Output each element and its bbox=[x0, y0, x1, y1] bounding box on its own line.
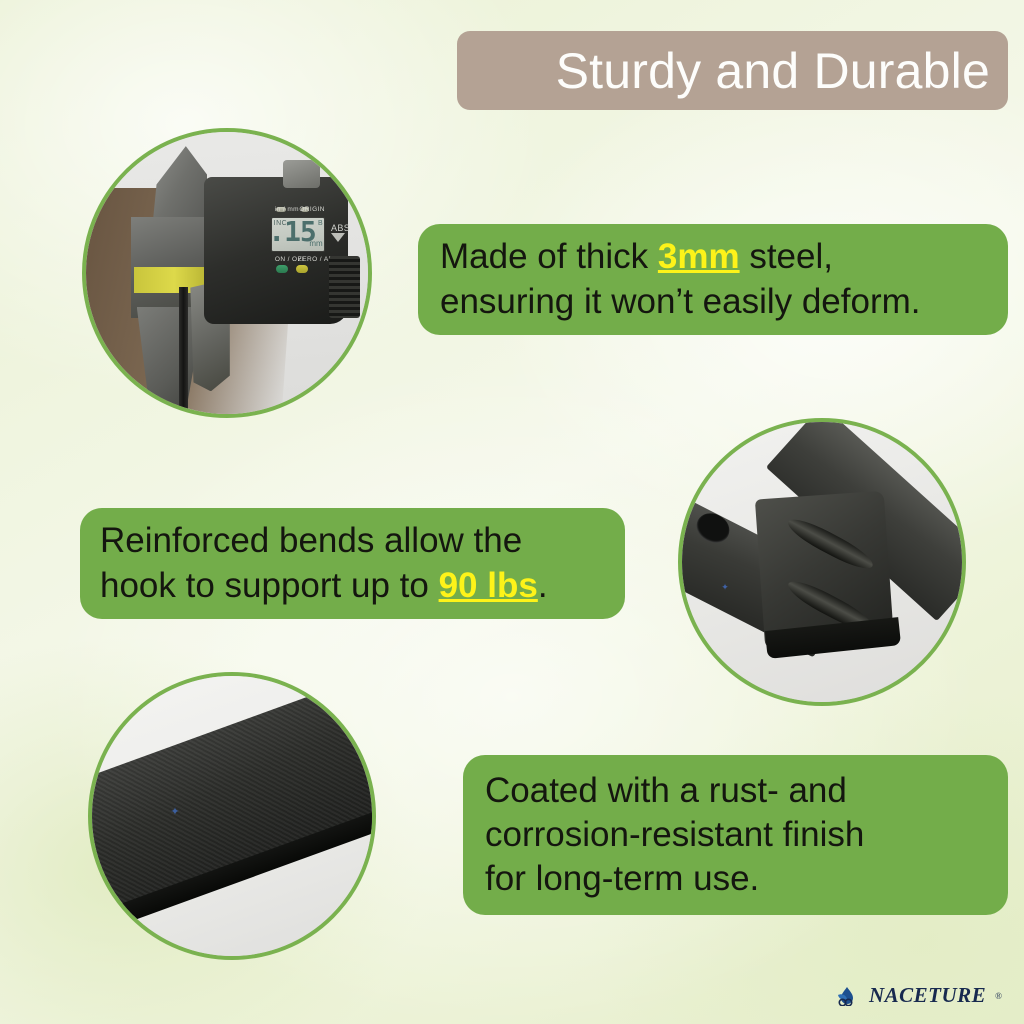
lcd-unit-label: mm bbox=[309, 239, 322, 248]
callout-text-pre: Made of thick bbox=[440, 237, 658, 276]
caliper-thumb-wheel bbox=[283, 160, 320, 188]
brand-logo: NACETURE ® bbox=[836, 983, 1002, 1008]
callout-capacity: Reinforced bends allow the hook to suppo… bbox=[80, 508, 625, 619]
caliper-label-abs: ABS bbox=[331, 223, 350, 233]
callout-thickness: Made of thick 3mm steel, ensuring it won… bbox=[418, 224, 1008, 335]
callout-line: hook to support up to 90 lbs. bbox=[100, 564, 605, 608]
caliper-scene: NACETURE in / mm ORIGIN INC B 3.15 mm ON… bbox=[86, 132, 368, 414]
infographic-canvas: Sturdy and Durable NACETURE in / mm ORIG… bbox=[0, 0, 1024, 1024]
callout-text-pre: ensuring it won’t easily deform. bbox=[440, 282, 921, 321]
lcd-battery-indicator: B bbox=[318, 220, 323, 227]
bend-scene: ✦ bbox=[682, 422, 962, 702]
coating-scene: ✦ bbox=[92, 676, 372, 956]
callout-text-pre: Coated with a rust- and bbox=[485, 771, 847, 810]
callout-text-pre: for long-term use. bbox=[485, 859, 759, 898]
bend-brand-stamp-icon: ✦ bbox=[721, 582, 730, 593]
photo-caliper-measurement: NACETURE in / mm ORIGIN INC B 3.15 mm ON… bbox=[82, 128, 372, 418]
caliper-button-zero bbox=[296, 265, 308, 273]
callout-line: Reinforced bends allow the bbox=[100, 519, 605, 563]
callout-text-pre: hook to support up to bbox=[100, 566, 439, 605]
caliper-button-power bbox=[276, 265, 288, 273]
photo-reinforced-bend: ✦ bbox=[678, 418, 966, 706]
coating-brand-stamp-icon: ✦ bbox=[170, 805, 179, 818]
caliper-depth-rod bbox=[179, 287, 188, 418]
callout-line: Made of thick 3mm steel, bbox=[440, 235, 986, 279]
caliper-arrow-icon bbox=[331, 233, 345, 242]
caliper-lcd-screen: INC B 3.15 mm bbox=[271, 217, 326, 252]
brand-trademark-symbol: ® bbox=[995, 991, 1002, 1001]
callout-highlight: 90 lbs bbox=[439, 566, 538, 605]
caliper-grip-ridges bbox=[329, 256, 360, 318]
callout-text-pre: Reinforced bends allow the bbox=[100, 521, 522, 560]
callout-text-post: . bbox=[538, 566, 548, 605]
callout-line: for long-term use. bbox=[485, 857, 986, 901]
callout-line: ensuring it won’t easily deform. bbox=[440, 280, 986, 324]
photo-coating-finish: ✦ bbox=[88, 672, 376, 960]
callout-text-pre: corrosion-resistant finish bbox=[485, 815, 864, 854]
droplet-leaf-icon bbox=[836, 986, 860, 1006]
callout-text-post: steel, bbox=[740, 237, 833, 276]
brand-name: NACETURE bbox=[869, 983, 986, 1008]
callout-line: Coated with a rust- and bbox=[485, 769, 986, 813]
caliper-label-inmm: in / mm bbox=[275, 206, 299, 213]
callout-line: corrosion-resistant finish bbox=[485, 813, 986, 857]
callout-highlight: 3mm bbox=[658, 237, 740, 276]
callout-coating: Coated with a rust- and corrosion-resist… bbox=[463, 755, 1008, 915]
page-title-banner: Sturdy and Durable bbox=[457, 31, 1008, 110]
caliper-label-origin: ORIGIN bbox=[299, 206, 325, 213]
page-title: Sturdy and Durable bbox=[556, 46, 990, 96]
caliper-head: in / mm ORIGIN INC B 3.15 mm ON / OFF ZE… bbox=[204, 177, 348, 324]
